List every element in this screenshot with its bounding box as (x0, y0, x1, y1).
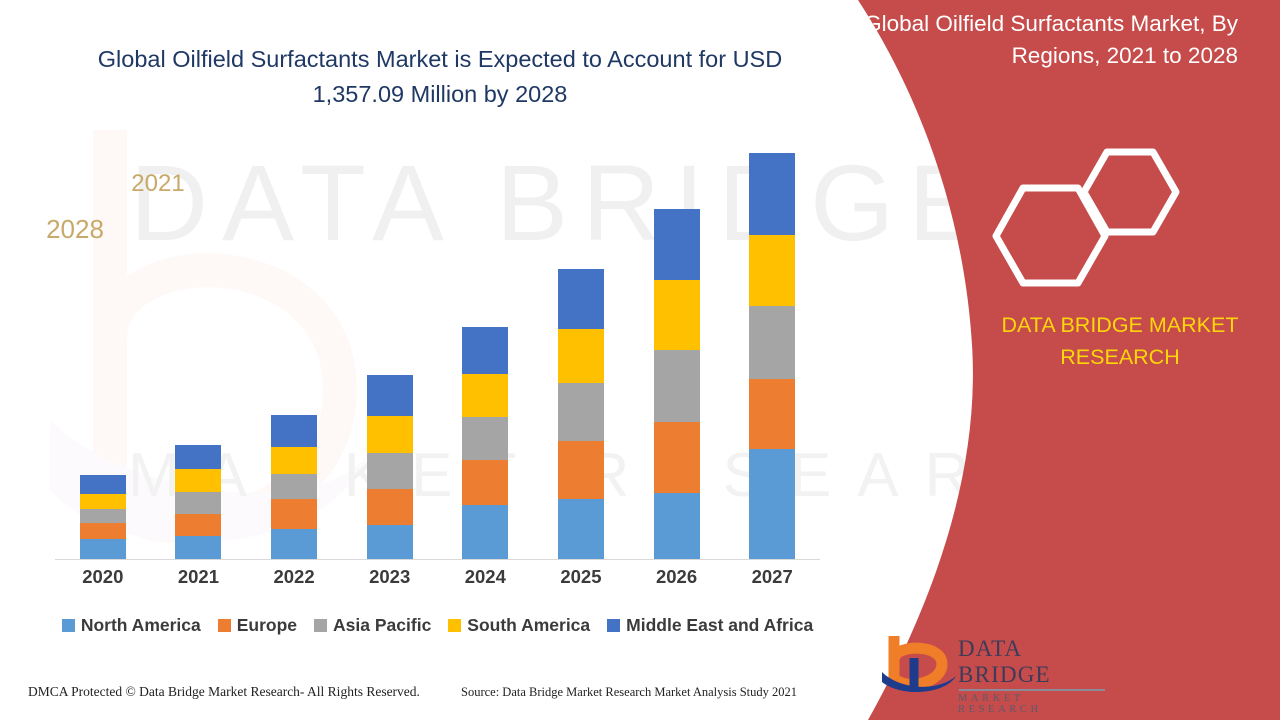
logo-divider (959, 689, 1105, 691)
bar-segment[interactable] (462, 505, 508, 559)
x-axis-tick: 2025 (533, 566, 628, 588)
x-axis-tick: 2021 (151, 566, 246, 588)
bar-segment[interactable] (654, 350, 700, 422)
legend-label: Asia Pacific (333, 615, 431, 636)
bar-segment[interactable] (749, 449, 795, 559)
bar-segment[interactable] (749, 153, 795, 235)
bar-segment[interactable] (654, 209, 700, 280)
legend-item[interactable]: North America (62, 615, 201, 636)
bar-stack (654, 209, 700, 559)
legend-item[interactable]: Middle East and Africa (607, 615, 813, 636)
legend-item[interactable]: South America (448, 615, 590, 636)
panel-title: Global Oilfield Surfactants Market, By R… (860, 8, 1260, 72)
x-axis-tick: 2022 (247, 566, 342, 588)
bar-segment[interactable] (367, 453, 413, 489)
bar-column[interactable] (247, 130, 342, 559)
bar-stack (367, 375, 413, 559)
bar-stack (271, 415, 317, 559)
bar-segment[interactable] (462, 417, 508, 460)
bar-segment[interactable] (271, 474, 317, 499)
page-title: Global Oilfield Surfactants Market is Ex… (60, 42, 820, 112)
bar-segment[interactable] (80, 475, 126, 494)
bar-column[interactable] (438, 130, 533, 559)
bar-segment[interactable] (271, 415, 317, 447)
bar-column[interactable] (342, 130, 437, 559)
bar-segment[interactable] (271, 447, 317, 474)
bar-segment[interactable] (558, 383, 604, 441)
hex-label-start-year: 2021 (112, 170, 204, 198)
bar-segment[interactable] (558, 499, 604, 559)
bar-segment[interactable] (462, 374, 508, 418)
legend-item[interactable]: Europe (218, 615, 297, 636)
bar-segment[interactable] (749, 306, 795, 379)
bar-column[interactable] (725, 130, 820, 559)
legend-item[interactable]: Asia Pacific (314, 615, 431, 636)
bar-segment[interactable] (654, 422, 700, 493)
bar-segment[interactable] (558, 329, 604, 383)
bar-segment[interactable] (80, 523, 126, 538)
bar-segment[interactable] (749, 235, 795, 306)
legend-swatch (448, 619, 461, 632)
x-axis-tick: 2024 (438, 566, 533, 588)
bar-segment[interactable] (367, 375, 413, 416)
bar-segment[interactable] (749, 379, 795, 450)
bar-segment[interactable] (558, 441, 604, 499)
bar-stack (462, 327, 508, 559)
bar-column[interactable] (629, 130, 724, 559)
bar-segment[interactable] (558, 269, 604, 329)
bar-segment[interactable] (80, 494, 126, 509)
hex-label-end-year: 2028 (25, 214, 125, 245)
bar-stack (749, 153, 795, 559)
x-axis-tick: 2026 (629, 566, 724, 588)
company-logo: DATA BRIDGE MARKET RESEARCH (880, 632, 1105, 698)
bar-segment[interactable] (271, 529, 317, 559)
legend-label: North America (81, 615, 201, 636)
infographic-page: DATA BRIDGE MARKET RESEARCH Global Oilfi… (0, 0, 1280, 720)
bar-segment[interactable] (175, 445, 221, 469)
bar-segment[interactable] (175, 536, 221, 559)
x-axis-labels: 20202021202220232024202520262027 (55, 566, 820, 588)
bar-segment[interactable] (175, 492, 221, 515)
bar-segment[interactable] (175, 514, 221, 536)
year-hexagons (975, 140, 1195, 290)
legend-swatch (314, 619, 327, 632)
logo-name: DATA BRIDGE (958, 636, 1105, 688)
brand-name: DATA BRIDGE MARKET RESEARCH (960, 310, 1280, 374)
bar-segment[interactable] (80, 539, 126, 559)
chart-legend: North AmericaEuropeAsia PacificSouth Ame… (55, 615, 820, 636)
x-axis-tick: 2020 (55, 566, 150, 588)
legend-label: South America (467, 615, 590, 636)
bar-segment[interactable] (462, 460, 508, 505)
bar-segment[interactable] (271, 499, 317, 528)
source-note: Source: Data Bridge Market Research Mark… (461, 685, 797, 700)
bar-segment[interactable] (80, 509, 126, 523)
bar-column[interactable] (533, 130, 628, 559)
x-axis-tick: 2023 (342, 566, 437, 588)
legend-label: Europe (237, 615, 297, 636)
bar-segment[interactable] (367, 525, 413, 559)
bar-segment[interactable] (654, 280, 700, 350)
legend-swatch (218, 619, 231, 632)
bar-segment[interactable] (367, 489, 413, 525)
copyright-notice: DMCA Protected © Data Bridge Market Rese… (28, 684, 420, 700)
bar-segment[interactable] (367, 416, 413, 453)
bar-stack (558, 269, 604, 559)
data-bridge-b-icon (880, 632, 958, 696)
bar-stack (80, 475, 126, 559)
bar-stack (175, 445, 221, 559)
bar-segment[interactable] (462, 327, 508, 374)
bar-segment[interactable] (654, 493, 700, 559)
logo-subtitle: MARKET RESEARCH (958, 693, 1105, 715)
bar-segment[interactable] (175, 469, 221, 492)
legend-swatch (62, 619, 75, 632)
legend-label: Middle East and Africa (626, 615, 813, 636)
x-axis-tick: 2027 (725, 566, 820, 588)
logo-text-block: DATA BRIDGE MARKET RESEARCH (958, 636, 1105, 715)
legend-swatch (607, 619, 620, 632)
hexagon-outline-icon (975, 140, 1195, 290)
